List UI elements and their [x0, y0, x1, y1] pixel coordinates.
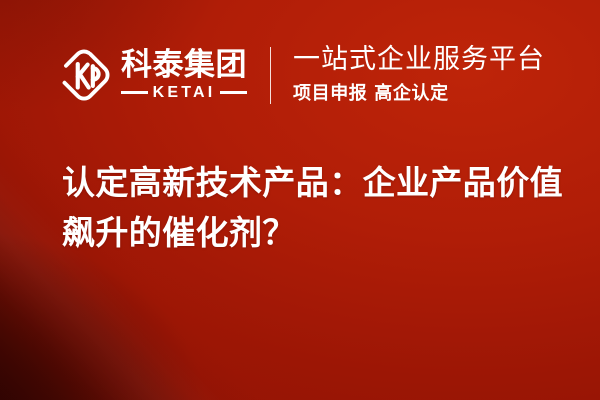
vertical-divider-icon — [270, 47, 271, 104]
tagline-secondary: 项目申报 高企认定 — [293, 79, 545, 105]
tagline-primary: 一站式企业服务平台 — [293, 45, 545, 75]
banner-header: 科泰集团 KETAI 一站式企业服务平台 项目申报 高企认定 — [0, 0, 600, 150]
logo-rule-right-icon — [220, 91, 247, 94]
brand-tagline: 一站式企业服务平台 项目申报 高企认定 — [293, 45, 545, 105]
brand-name-en-row: KETAI — [121, 85, 247, 101]
brand-logo[interactable]: 科泰集团 KETAI — [58, 49, 247, 101]
logo-rule-left-icon — [121, 91, 148, 94]
brand-wordmark: 科泰集团 KETAI — [121, 50, 247, 101]
promo-banner: 科泰集团 KETAI 一站式企业服务平台 项目申报 高企认定 认定高新技术产品：… — [0, 0, 600, 400]
page-title: 认定高新技术产品：企业产品价值飙升的催化剂？ — [62, 158, 567, 257]
brand-name-cn: 科泰集团 — [121, 50, 247, 81]
brand-name-en: KETAI — [153, 85, 216, 101]
ketai-diamond-monogram-icon — [58, 49, 110, 101]
